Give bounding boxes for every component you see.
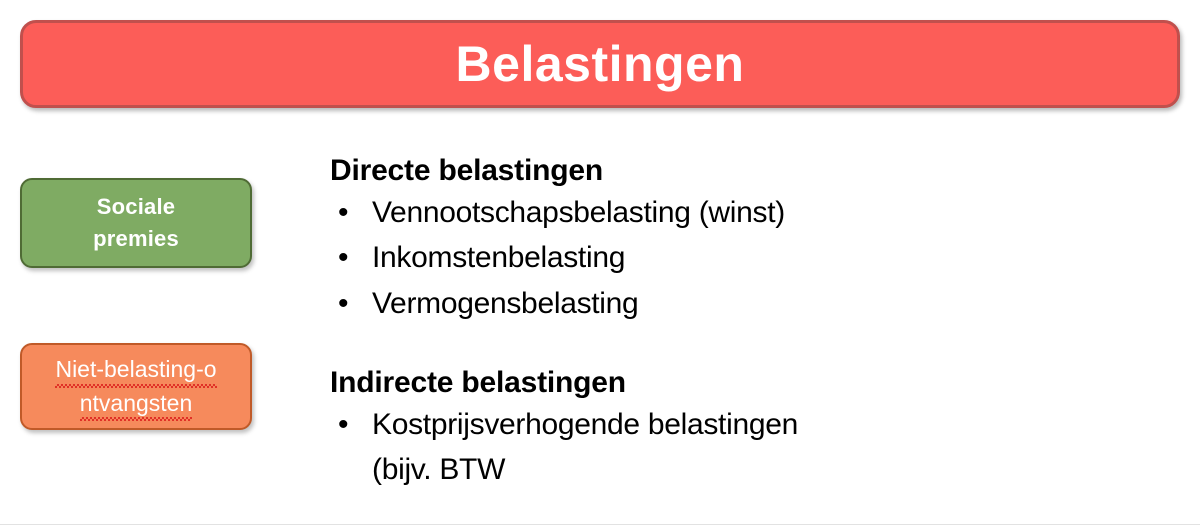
callout-box-sociale-premies: Sociale premies — [20, 178, 252, 268]
list-item: • Inkomstenbelasting — [330, 235, 1020, 281]
bullet-icon: • — [338, 402, 348, 448]
bullet-icon: • — [338, 190, 348, 236]
callout-box-niet-belasting-ontvangsten: Niet-belasting-o ntvangsten — [20, 343, 252, 430]
list-item: • Vennootschapsbelasting (winst) — [330, 190, 1020, 236]
callout-box-niet-belasting-line-2: ntvangsten — [80, 387, 193, 421]
section-heading-indirecte: Indirecte belastingen — [330, 364, 1020, 402]
list-item: • Vermogensbelasting — [330, 281, 1020, 327]
section-indirecte-belastingen: Indirecte belastingen • Kostprijsverhoge… — [330, 364, 1020, 493]
page-title: Belastingen — [456, 39, 745, 89]
list-item-text: Kostprijsverhogende belastingen — [372, 408, 798, 441]
bullet-icon: • — [338, 281, 348, 327]
callout-box-niet-belasting-line-1: Niet-belasting-o — [55, 353, 216, 387]
callout-box-sociale-premies-line-1: Sociale — [97, 191, 175, 223]
list-item-text: Vermogensbelasting — [372, 287, 638, 320]
section-heading-directe: Directe belastingen — [330, 152, 1020, 190]
content-body: Directe belastingen • Vennootschapsbelas… — [330, 152, 1020, 493]
title-banner: Belastingen — [20, 20, 1180, 108]
section-directe-belastingen: Directe belastingen • Vennootschapsbelas… — [330, 152, 1020, 326]
bullet-list-indirecte: • Kostprijsverhogende belastingen (bijv.… — [330, 402, 1020, 493]
bottom-divider — [0, 524, 1200, 525]
list-item-text: Vennootschapsbelasting (winst) — [372, 196, 785, 229]
list-item-text: Inkomstenbelasting — [372, 241, 625, 274]
bullet-icon: • — [338, 235, 348, 281]
bullet-list-directe: • Vennootschapsbelasting (winst) • Inkom… — [330, 190, 1020, 327]
callout-box-sociale-premies-line-2: premies — [93, 223, 179, 255]
list-item: • Kostprijsverhogende belastingen (bijv.… — [330, 402, 1020, 493]
list-item-text-continued: (bijv. BTW — [372, 447, 1020, 493]
